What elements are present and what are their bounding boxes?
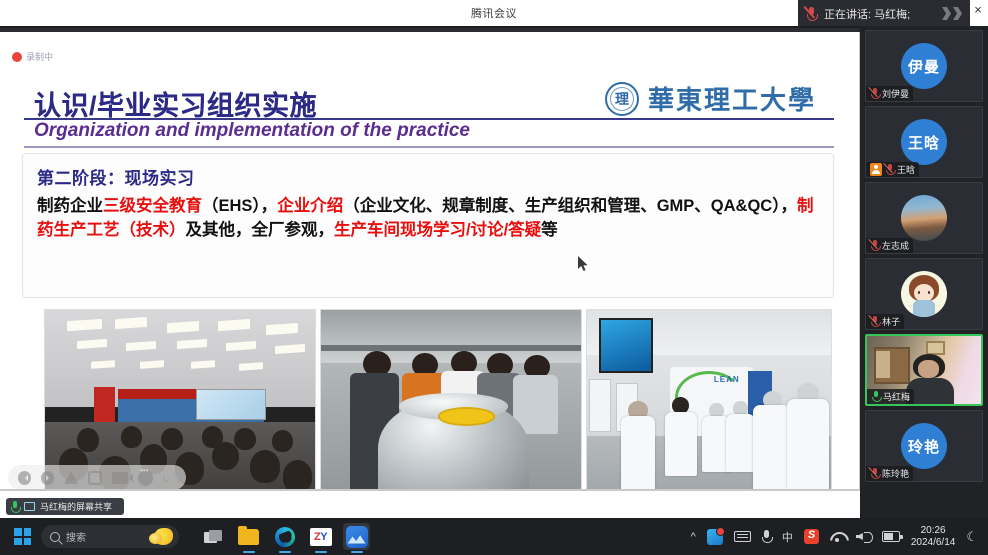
active-speaker-bar[interactable]: 正在讲话: 马红梅; — [798, 0, 970, 27]
search-icon — [50, 532, 60, 542]
taskbar-app-task-view[interactable] — [199, 523, 226, 550]
start-button[interactable] — [14, 528, 31, 545]
participant-name-badge: 马红梅 — [867, 389, 914, 404]
sogou-icon[interactable] — [804, 529, 819, 544]
window-chrome-line — [0, 26, 988, 28]
camera-icon[interactable] — [112, 472, 128, 484]
pen-icon[interactable] — [64, 471, 78, 484]
participant-name-badge: 刘伊曼 — [866, 86, 913, 101]
participant-name: 刘伊曼 — [882, 87, 909, 100]
active-speaker-label: 正在讲话: 马红梅; — [824, 6, 910, 22]
content-segment: （企业文化、规章制度、生产组织和管理、GMP、QA&QC）， — [343, 197, 797, 215]
content-body: 制药企业三级安全教育（EHS），企业介绍（企业文化、规章制度、生产组织和管理、G… — [37, 194, 819, 243]
share-bottom-border — [0, 490, 860, 491]
back-icon[interactable] — [163, 471, 176, 485]
content-segment: 三级安全教育 — [103, 197, 202, 215]
lean-wall-text: LEAN — [714, 375, 740, 384]
avatar — [901, 195, 947, 241]
participant-name-badge: 王晗 — [866, 162, 919, 177]
photo-reactor-vessel — [320, 309, 582, 490]
share-owner-badge: 马红梅的屏幕共享 — [6, 498, 124, 515]
mic-muted-icon — [885, 164, 894, 176]
wall-display — [599, 318, 653, 373]
do-not-disturb-icon[interactable]: ☾ — [966, 529, 978, 545]
avatar — [901, 271, 947, 317]
slide-content-box: 第二阶段：现场实习 制药企业三级安全教育（EHS），企业介绍（企业文化、规章制度… — [22, 153, 834, 298]
media-control-toolbar[interactable] — [8, 465, 186, 490]
keyboard-icon[interactable] — [734, 531, 751, 542]
content-segment: 生产车间现场学习/讨论/答疑 — [334, 221, 541, 239]
content-segment: 制药企业 — [37, 197, 103, 215]
search-placeholder: 搜索 — [66, 529, 86, 544]
window-title: 腾讯会议 — [471, 5, 517, 21]
mic-on-icon — [871, 391, 880, 403]
participant-name-badge: 陈玲艳 — [866, 466, 913, 481]
participant-rail[interactable]: 伊曼刘伊曼王晗王晗左志成林子马红梅玲艳陈玲艳 — [860, 26, 988, 490]
presentation-slide: 录制中 认识/毕业实习组织实施 Organization and impleme… — [0, 32, 858, 488]
mic-muted-icon — [870, 316, 879, 328]
avatar: 王晗 — [901, 119, 947, 165]
participant-name-badge: 左志成 — [866, 238, 913, 253]
participant-tile[interactable]: 玲艳陈玲艳 — [865, 410, 983, 482]
participant-rail-footer — [860, 490, 988, 518]
tencent-meeting-icon — [346, 526, 368, 548]
mic-muted-icon — [870, 88, 879, 100]
clock[interactable]: 20:26 2024/6/14 — [911, 525, 956, 548]
participant-tile[interactable]: 林子 — [865, 258, 983, 330]
clock-date: 2024/6/14 — [911, 537, 956, 549]
share-bottom-strip — [0, 490, 860, 518]
taskbar-app-microsoft-edge[interactable] — [271, 523, 298, 550]
zy-icon: ZY — [310, 528, 332, 546]
mic-muted-icon — [870, 468, 879, 480]
mic-muted-icon — [870, 240, 879, 252]
more-icon[interactable] — [138, 470, 153, 486]
volume-icon[interactable] — [856, 530, 871, 543]
edge-icon — [275, 527, 295, 547]
participant-name: 王晗 — [897, 163, 915, 176]
task-view-icon — [204, 530, 222, 544]
content-segment: 等 — [541, 221, 558, 239]
mic-muted-icon — [806, 7, 817, 21]
avatar: 伊曼 — [901, 43, 947, 89]
taskbar-app-tencent-meeting[interactable] — [343, 523, 370, 550]
previous-icon[interactable] — [18, 471, 31, 485]
ime-indicator[interactable]: 中 — [782, 529, 793, 545]
folder-icon — [238, 529, 259, 545]
university-logo: 理 華東理工大學 — [605, 80, 816, 117]
taskbar-app-zy[interactable]: ZY — [307, 523, 334, 550]
participant-name: 左志成 — [882, 239, 909, 252]
screen-root: 腾讯会议 正在讲话: 马红梅; × 录制中 认识/毕业实习组织实施 Organi… — [0, 0, 988, 555]
university-seal-icon: 理 — [605, 82, 639, 116]
subtitle-divider — [24, 146, 834, 148]
content-heading: 第二阶段：现场实习 — [37, 164, 819, 189]
close-icon[interactable]: × — [970, 2, 986, 18]
shared-screen-area[interactable]: 录制中 认识/毕业实习组织实施 Organization and impleme… — [0, 32, 860, 490]
lemon-icon — [154, 528, 173, 545]
share-owner-label: 马红梅的屏幕共享 — [40, 500, 112, 513]
mic-on-icon — [11, 501, 19, 513]
taskbar-app-file-explorer[interactable] — [235, 523, 262, 550]
select-icon[interactable] — [88, 471, 102, 485]
photo-strip: LEAN — [44, 309, 834, 490]
photo-lecture-hall — [44, 309, 316, 490]
microphone-icon[interactable] — [762, 530, 771, 544]
double-chevron-right-icon[interactable] — [942, 7, 962, 20]
content-segment: 企业介绍 — [277, 197, 343, 215]
show-hidden-icons-icon[interactable]: ^ — [691, 531, 696, 543]
participant-name: 陈玲艳 — [882, 467, 909, 480]
avatar: 玲艳 — [901, 423, 947, 469]
participant-name: 马红梅 — [883, 390, 910, 403]
participant-tile[interactable]: 左志成 — [865, 182, 983, 254]
search-input[interactable]: 搜索 — [41, 525, 179, 548]
slide-title-english: Organization and implementation of the p… — [34, 120, 470, 142]
recording-dot-icon — [12, 52, 22, 62]
photo-cleanroom-tour: LEAN — [586, 309, 832, 490]
battery-icon[interactable] — [882, 531, 900, 542]
participant-tile[interactable]: 伊曼刘伊曼 — [865, 30, 983, 102]
participant-name: 林子 — [882, 315, 900, 328]
recording-indicator: 录制中 — [12, 50, 53, 63]
host-icon — [870, 163, 882, 176]
windows-taskbar[interactable]: 搜索 ZY ^ 中 — [0, 518, 988, 555]
clock-time: 20:26 — [911, 525, 956, 537]
wifi-icon[interactable] — [830, 531, 845, 542]
tray-app-icon[interactable] — [707, 529, 723, 545]
participant-tile[interactable]: 王晗王晗 — [865, 106, 983, 178]
seal-char: 理 — [615, 89, 629, 109]
play-icon[interactable] — [41, 471, 54, 485]
screen-share-icon — [24, 502, 35, 511]
recording-label: 录制中 — [26, 50, 53, 63]
participant-tile[interactable]: 马红梅 — [865, 334, 983, 406]
content-segment: （EHS）， — [202, 197, 277, 215]
participant-name-badge: 林子 — [866, 314, 904, 329]
content-segment: 及其他，全厂参观， — [186, 221, 335, 239]
university-name: 華東理工大學 — [648, 80, 816, 117]
